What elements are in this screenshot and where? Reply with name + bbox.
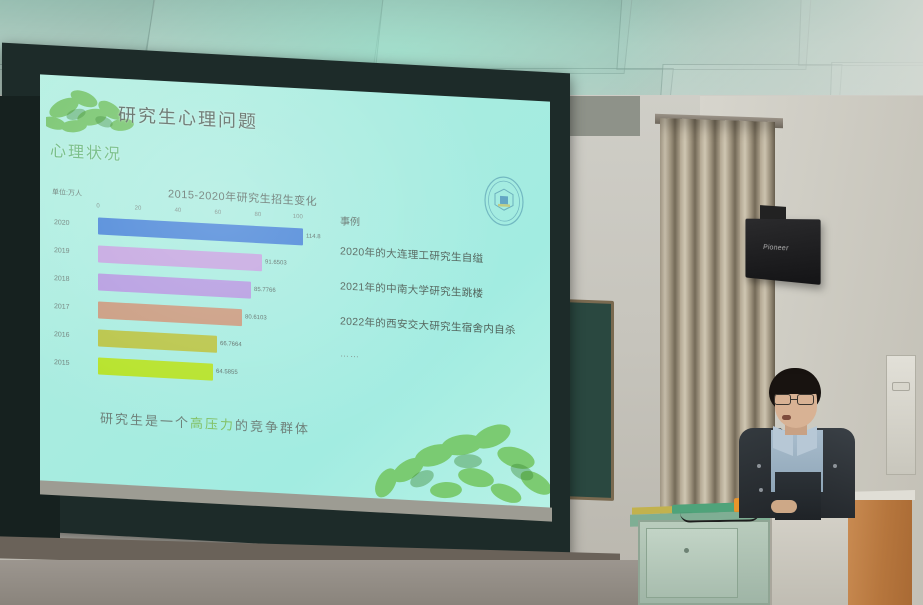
floor bbox=[0, 560, 640, 605]
wall-speaker: Pioneer bbox=[745, 219, 820, 285]
bar-chart: 0 20 40 60 80 100 2020 114.8 2019 91.650… bbox=[48, 201, 348, 399]
footer-text-highlight: 高压力 bbox=[190, 415, 235, 432]
axis-tick: 0 bbox=[96, 203, 99, 209]
bar-2018 bbox=[98, 274, 251, 299]
bar-2019 bbox=[98, 246, 262, 272]
list-item: 2022年的西安交大研究生宿舍内自杀 bbox=[340, 313, 545, 339]
cases-block: 事例 2020年的大连理工研究生自缢 2021年的中南大学研究生跳楼 2022年… bbox=[340, 212, 545, 369]
bar-value-label: 64.5855 bbox=[216, 369, 238, 376]
bar-value-label: 114.8 bbox=[306, 234, 321, 241]
slide-subtitle: 心理状况 bbox=[50, 137, 122, 165]
footer-text-part1: 研究生是一个 bbox=[100, 411, 190, 431]
bar-category-label: 2020 bbox=[54, 219, 70, 227]
cabinet-door[interactable] bbox=[646, 528, 738, 598]
axis-tick: 60 bbox=[215, 210, 222, 216]
projected-slide: 研究生心理问题 心理状况 单位:万人 2015-2020年研究生招生变化 0 2… bbox=[40, 74, 550, 511]
bar-value-label: 91.6503 bbox=[265, 259, 287, 266]
list-item: 2021年的中南大学研究生跳楼 bbox=[340, 278, 545, 304]
cases-ellipsis: …… bbox=[340, 348, 545, 369]
bar-category-label: 2017 bbox=[54, 303, 70, 311]
axis-tick: 80 bbox=[254, 212, 261, 218]
mouth bbox=[782, 415, 791, 420]
axis-tick: 20 bbox=[135, 205, 142, 211]
bar-category-label: 2019 bbox=[54, 247, 70, 255]
cabinet-knob-icon[interactable] bbox=[684, 548, 689, 553]
jacket-button-icon bbox=[833, 464, 837, 468]
speaker-brand-label: Pioneer bbox=[763, 244, 789, 252]
bar-2015 bbox=[98, 358, 213, 381]
axis-tick: 40 bbox=[175, 208, 182, 214]
glasses-icon bbox=[773, 394, 817, 405]
bar-value-label: 80.6103 bbox=[245, 314, 267, 321]
jacket-button-icon bbox=[759, 488, 763, 492]
bar-category-label: 2018 bbox=[54, 275, 70, 283]
jacket-button-icon bbox=[757, 464, 761, 468]
hair-front bbox=[771, 374, 819, 394]
slide-footer-statement: 研究生是一个高压力的竞争群体 bbox=[100, 408, 310, 438]
bar-category-label: 2015 bbox=[54, 359, 70, 367]
lecture-hall-photo: Pioneer bbox=[0, 0, 923, 605]
table-row: 2015 64.5855 bbox=[48, 355, 348, 390]
leaf-decoration-bottom-icon bbox=[346, 389, 550, 510]
chart-title: 2015-2020年研究生招生变化 bbox=[168, 185, 317, 209]
bar-value-label: 85.7766 bbox=[254, 287, 276, 294]
presenter bbox=[735, 368, 860, 528]
footer-text-part2: 的竞争群体 bbox=[235, 418, 310, 437]
bar-2016 bbox=[98, 330, 217, 353]
bar-2017 bbox=[98, 302, 242, 327]
chart-unit-label: 单位:万人 bbox=[52, 187, 82, 199]
list-item: 2020年的大连理工研究生自缢 bbox=[340, 243, 545, 269]
bar-value-label: 66.7664 bbox=[220, 341, 242, 348]
wall-panel-slot bbox=[892, 382, 910, 391]
bar-category-label: 2016 bbox=[54, 331, 70, 339]
hand bbox=[771, 500, 797, 513]
axis-tick: 100 bbox=[293, 214, 303, 221]
wall-control-panel[interactable] bbox=[886, 355, 916, 475]
